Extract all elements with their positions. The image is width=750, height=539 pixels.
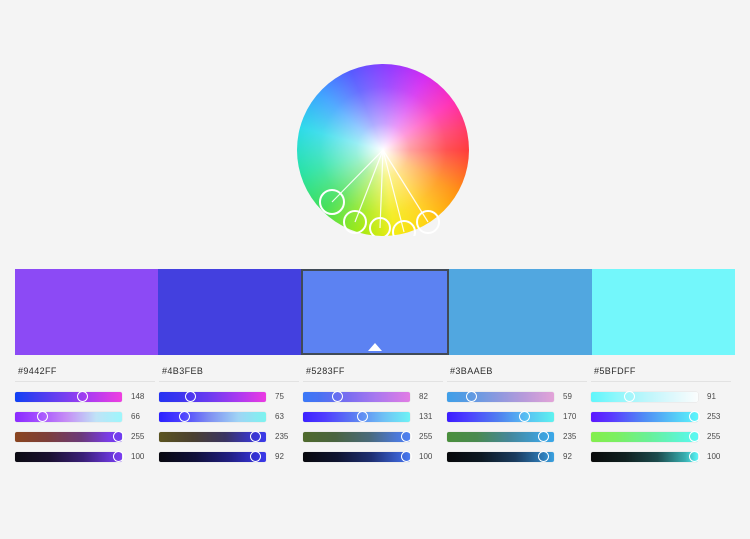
- slider-row-alpha-slider: 92: [447, 451, 587, 462]
- alpha-slider-thumb-1[interactable]: [113, 451, 124, 462]
- color-control-column-1: #9442FF14866255100: [15, 366, 159, 476]
- hex-value-label-4[interactable]: #3BAAEB: [447, 366, 587, 382]
- brightness-slider-3[interactable]: [303, 432, 410, 442]
- alpha-slider-value-3: 100: [419, 451, 443, 462]
- slider-row-hue-slider: 148: [15, 391, 155, 402]
- alpha-slider-thumb-5[interactable]: [689, 451, 700, 462]
- saturation-slider-2[interactable]: [159, 412, 266, 422]
- alpha-slider-value-4: 92: [563, 451, 587, 462]
- brightness-slider-value-4: 235: [563, 431, 587, 442]
- hue-slider-3[interactable]: [303, 392, 410, 402]
- saturation-slider-thumb-4[interactable]: [519, 411, 530, 422]
- alpha-slider-4[interactable]: [447, 452, 554, 462]
- slider-row-alpha-slider: 92: [159, 451, 299, 462]
- hue-slider-thumb-2[interactable]: [185, 391, 196, 402]
- alpha-slider-5[interactable]: [591, 452, 698, 462]
- slider-row-hue-slider: 91: [591, 391, 731, 402]
- brightness-slider-value-1: 255: [131, 431, 155, 442]
- slider-row-saturation-slider: 66: [15, 411, 155, 422]
- hue-slider-value-5: 91: [707, 391, 731, 402]
- brightness-slider-value-3: 255: [419, 431, 443, 442]
- hex-value-label-5[interactable]: #5BFDFF: [591, 366, 731, 382]
- hex-value-label-3[interactable]: #5283FF: [303, 366, 443, 382]
- saturation-slider-value-4: 170: [563, 411, 587, 422]
- brightness-slider-thumb-1[interactable]: [113, 431, 124, 442]
- slider-row-saturation-slider: 170: [447, 411, 587, 422]
- brightness-slider-thumb-2[interactable]: [250, 431, 261, 442]
- hue-slider-value-3: 82: [419, 391, 443, 402]
- color-control-column-3: #5283FF82131255100: [303, 366, 447, 476]
- alpha-slider-value-2: 92: [275, 451, 299, 462]
- slider-row-brightness-slider: 235: [159, 431, 299, 442]
- alpha-slider-3[interactable]: [303, 452, 410, 462]
- alpha-slider-thumb-3[interactable]: [401, 451, 412, 462]
- saturation-slider-value-3: 131: [419, 411, 443, 422]
- slider-row-saturation-slider: 253: [591, 411, 731, 422]
- slider-row-hue-slider: 59: [447, 391, 587, 402]
- alpha-slider-2[interactable]: [159, 452, 266, 462]
- saturation-slider-5[interactable]: [591, 412, 698, 422]
- alpha-slider-value-1: 100: [131, 451, 155, 462]
- brightness-slider-value-2: 235: [275, 431, 299, 442]
- color-control-column-4: #3BAAEB5917023592: [447, 366, 591, 476]
- saturation-slider-value-1: 66: [131, 411, 155, 422]
- hue-slider-value-2: 75: [275, 391, 299, 402]
- slider-row-saturation-slider: 63: [159, 411, 299, 422]
- saturation-slider-3[interactable]: [303, 412, 410, 422]
- palette-swatch-5[interactable]: [592, 269, 735, 355]
- hue-slider-4[interactable]: [447, 392, 554, 402]
- saturation-slider-1[interactable]: [15, 412, 122, 422]
- slider-row-saturation-slider: 131: [303, 411, 443, 422]
- alpha-slider-thumb-4[interactable]: [538, 451, 549, 462]
- hue-slider-5[interactable]: [591, 392, 698, 402]
- saturation-slider-thumb-5[interactable]: [689, 411, 700, 422]
- slider-row-brightness-slider: 255: [15, 431, 155, 442]
- alpha-slider-1[interactable]: [15, 452, 122, 462]
- hue-slider-thumb-5[interactable]: [624, 391, 635, 402]
- alpha-slider-value-5: 100: [707, 451, 731, 462]
- color-wheel[interactable]: [297, 64, 469, 236]
- hue-slider-value-1: 148: [131, 391, 155, 402]
- hue-slider-1[interactable]: [15, 392, 122, 402]
- color-control-column-5: #5BFDFF91253255100: [591, 366, 735, 476]
- palette-swatch-3[interactable]: [301, 269, 448, 355]
- palette-swatch-4[interactable]: [449, 269, 592, 355]
- hue-slider-2[interactable]: [159, 392, 266, 402]
- slider-row-hue-slider: 82: [303, 391, 443, 402]
- hue-slider-thumb-4[interactable]: [466, 391, 477, 402]
- slider-row-brightness-slider: 255: [591, 431, 731, 442]
- slider-row-hue-slider: 75: [159, 391, 299, 402]
- slider-row-alpha-slider: 100: [591, 451, 731, 462]
- alpha-slider-thumb-2[interactable]: [250, 451, 261, 462]
- slider-row-alpha-slider: 100: [303, 451, 443, 462]
- brightness-slider-thumb-3[interactable]: [401, 431, 412, 442]
- brightness-slider-4[interactable]: [447, 432, 554, 442]
- hex-value-label-1[interactable]: #9442FF: [15, 366, 155, 382]
- color-control-column-2: #4B3FEB756323592: [159, 366, 303, 476]
- brightness-slider-value-5: 255: [707, 431, 731, 442]
- palette-controls: #9442FF14866255100#4B3FEB756323592#5283F…: [15, 366, 735, 476]
- slider-row-brightness-slider: 235: [447, 431, 587, 442]
- saturation-slider-thumb-3[interactable]: [357, 411, 368, 422]
- saturation-slider-thumb-2[interactable]: [179, 411, 190, 422]
- hue-slider-thumb-3[interactable]: [332, 391, 343, 402]
- saturation-slider-value-5: 253: [707, 411, 731, 422]
- palette-swatch-1[interactable]: [15, 269, 158, 355]
- brightness-slider-1[interactable]: [15, 432, 122, 442]
- brightness-slider-5[interactable]: [591, 432, 698, 442]
- saturation-slider-4[interactable]: [447, 412, 554, 422]
- slider-row-brightness-slider: 255: [303, 431, 443, 442]
- selected-swatch-pointer-icon: [368, 343, 382, 351]
- hue-slider-value-4: 59: [563, 391, 587, 402]
- brightness-slider-thumb-4[interactable]: [538, 431, 549, 442]
- slider-row-alpha-slider: 100: [15, 451, 155, 462]
- palette-swatch-strip: [15, 269, 735, 355]
- color-wheel-area: [0, 0, 750, 250]
- palette-swatch-2[interactable]: [158, 269, 301, 355]
- saturation-slider-value-2: 63: [275, 411, 299, 422]
- hue-slider-thumb-1[interactable]: [77, 391, 88, 402]
- brightness-slider-thumb-5[interactable]: [689, 431, 700, 442]
- saturation-slider-thumb-1[interactable]: [37, 411, 48, 422]
- hex-value-label-2[interactable]: #4B3FEB: [159, 366, 299, 382]
- brightness-slider-2[interactable]: [159, 432, 266, 442]
